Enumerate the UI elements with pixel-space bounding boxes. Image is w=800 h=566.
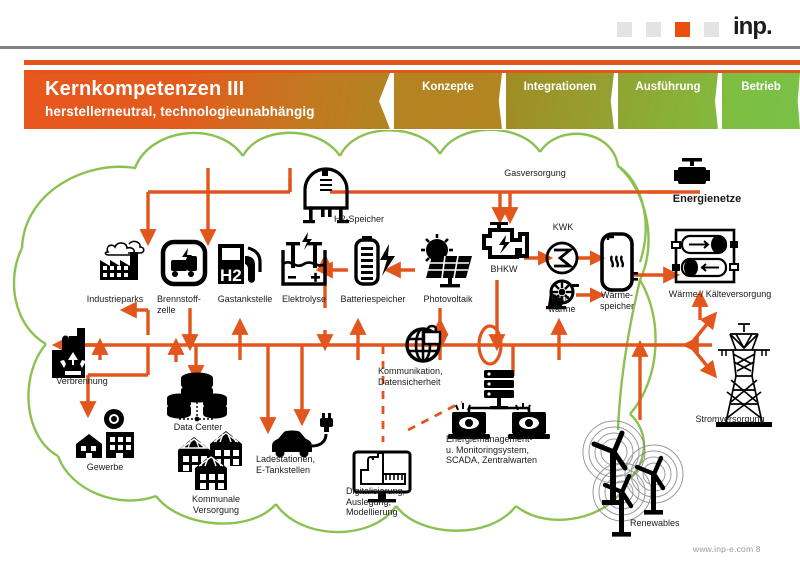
label-gastankstelle: Gastankstelle	[210, 294, 280, 305]
valve-icon	[674, 158, 710, 184]
fuel-cell-icon	[163, 242, 205, 284]
label-kwk: KWK	[540, 222, 586, 233]
phase-block-integrationen[interactable]: Integrationen	[506, 73, 614, 129]
footer-url: www.inp-e.com 8	[693, 544, 761, 554]
phase-label-konzepte: Konzepte	[394, 81, 502, 93]
label-bhkw: BHKW	[481, 264, 527, 275]
phase-block-konzepte[interactable]: Konzepte	[394, 73, 502, 129]
label-kommunikation: Kommunikation, Datensicherheit	[378, 366, 472, 387]
h2-pump-icon: H2	[218, 244, 260, 285]
label-renewables: Renewables	[630, 518, 706, 529]
phase-block-betrieb[interactable]: Betrieb	[722, 73, 800, 129]
pylon-icon	[716, 324, 772, 427]
label-waerme-kaelteversorgung: Wärme-/ Kälteversorgung	[660, 289, 780, 300]
energy-system-diagram: H2	[0, 130, 800, 550]
brand-square-gray-3	[704, 22, 719, 37]
brand-square-gray-2	[646, 22, 661, 37]
label-stromversorgung: Stromversorgung	[680, 414, 780, 425]
engine-icon	[484, 222, 527, 257]
ev-charging-icon	[272, 413, 333, 458]
recycling-plant-icon	[52, 328, 86, 378]
svg-text:H2: H2	[220, 266, 242, 285]
brand-bar: inp.	[0, 0, 800, 47]
label-brennstoffzelle: Brennstoff- zelle	[157, 294, 215, 315]
label-gewerbe: Gewerbe	[70, 462, 140, 473]
factory-smoke-icon	[100, 241, 144, 280]
label-kommunale-versorgung: Kommunale Versorgung	[176, 494, 256, 515]
label-ladestationen: Ladestationen, E-Tankstellen	[256, 454, 342, 475]
phase-label-ausfuehrung: Ausführung	[618, 81, 718, 93]
brand-wordmark: inp.	[733, 15, 772, 39]
label-gasversorgung: Gasversorgung	[480, 168, 590, 179]
label-fernwaerme: Fern- wärme	[539, 293, 585, 314]
label-industrieparks: Industrieparks	[75, 294, 155, 305]
label-energiemanagement: Energiemanagement- u. Monitoringsystem, …	[446, 434, 566, 466]
label-data-center: Data Center	[158, 422, 238, 433]
heat-exchanger-icon	[672, 230, 738, 282]
commercial-building-icon	[76, 409, 134, 458]
page-title: Kernkompetenzen III	[45, 78, 244, 101]
label-photovoltaik: Photovoltaik	[412, 294, 484, 305]
label-digitalisierung: Digitalisierung, Auslegung, Modellierung	[346, 486, 432, 518]
heat-storage-icon	[602, 234, 638, 290]
phase-block-ausfuehrung[interactable]: Ausführung	[618, 73, 718, 129]
label-batteriespeicher: Batteriespeicher	[332, 294, 414, 305]
phase-label-integrationen: Integrationen	[506, 81, 614, 93]
battery-icon	[356, 236, 395, 284]
label-waermespeicher: Wärme- speicher	[592, 290, 642, 311]
brand-square-gray-1	[617, 22, 632, 37]
houses-icon	[178, 431, 242, 490]
electrolysis-icon	[283, 232, 325, 284]
orange-rule-top	[24, 60, 800, 65]
label-h2-speicher: H2-Speicher	[334, 214, 414, 225]
phase-label-betrieb: Betrieb	[722, 81, 800, 93]
brand-square-orange	[675, 22, 690, 37]
server-stack-icon	[167, 373, 227, 422]
kwk-icon	[547, 243, 577, 273]
page-subtitle: herstellerneutral, technologieunabhängig	[45, 104, 315, 119]
banner: Kernkompetenzen III herstellerneutral, t…	[24, 73, 800, 129]
label-verbrennung: Verbrennung	[44, 376, 120, 387]
label-elektrolyse: Elektrolyse	[271, 294, 337, 305]
gray-divider	[0, 46, 800, 49]
label-energienetze: Energienetze	[652, 194, 762, 205]
solar-panel-icon	[421, 234, 472, 287]
